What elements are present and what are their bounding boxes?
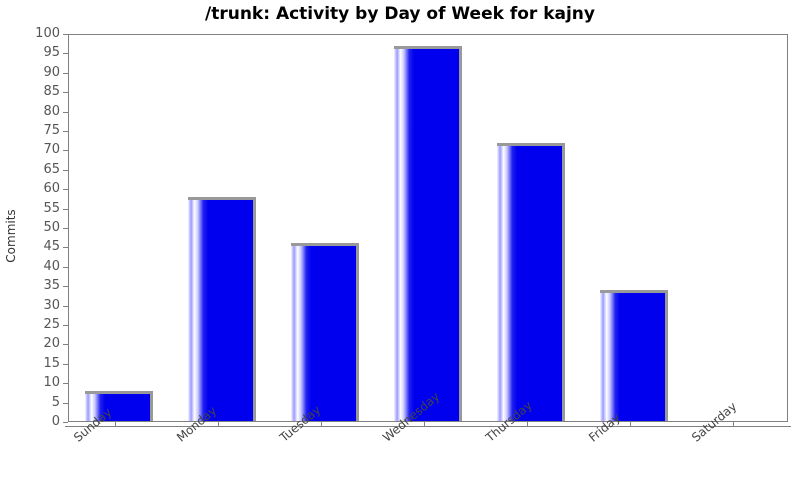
bars-layer bbox=[69, 35, 787, 421]
y-tick-label: 50 bbox=[43, 219, 60, 237]
y-tick-label: 35 bbox=[43, 277, 60, 295]
y-tick-label: 10 bbox=[43, 374, 60, 392]
bar-group bbox=[288, 35, 356, 421]
y-axis: Commits 05101520253035404550556065707580… bbox=[0, 34, 68, 422]
bar-chart: /trunk: Activity by Day of Week for kajn… bbox=[0, 0, 800, 500]
x-tick-mark bbox=[218, 422, 219, 427]
y-tick-label: 15 bbox=[43, 355, 60, 373]
bar-group bbox=[597, 35, 665, 421]
y-tick-label: 55 bbox=[43, 200, 60, 218]
bar-group bbox=[185, 35, 253, 421]
y-tick-label: 85 bbox=[43, 83, 60, 101]
y-tick-label: 40 bbox=[43, 258, 60, 276]
x-tick-mark bbox=[527, 422, 528, 427]
y-tick-label: 30 bbox=[43, 297, 60, 315]
x-axis-line bbox=[65, 426, 791, 427]
bar-group bbox=[700, 35, 768, 421]
y-tick-label: 65 bbox=[43, 161, 60, 179]
bar[interactable] bbox=[597, 293, 665, 421]
bar[interactable] bbox=[288, 246, 356, 421]
y-tick-label: 75 bbox=[43, 122, 60, 140]
y-tick-label: 0 bbox=[52, 413, 60, 431]
x-axis: SundayMondayTuesdayWednesdayThursdayFrid… bbox=[68, 422, 788, 500]
y-tick-label: 5 bbox=[52, 394, 60, 412]
y-tick-label: 20 bbox=[43, 335, 60, 353]
x-tick-mark bbox=[424, 422, 425, 427]
chart-title: /trunk: Activity by Day of Week for kajn… bbox=[0, 4, 800, 24]
y-tick-label: 100 bbox=[35, 25, 60, 43]
plot-area bbox=[68, 34, 788, 422]
y-axis-title: Commits bbox=[4, 186, 18, 286]
bar-group bbox=[82, 35, 150, 421]
y-tick-label: 45 bbox=[43, 238, 60, 256]
x-tick-mark bbox=[733, 422, 734, 427]
y-tick-label: 60 bbox=[43, 180, 60, 198]
y-tick-label: 90 bbox=[43, 64, 60, 82]
y-tick-label: 95 bbox=[43, 44, 60, 62]
bar[interactable] bbox=[391, 49, 459, 421]
y-tick-label: 80 bbox=[43, 103, 60, 121]
bar[interactable] bbox=[494, 146, 562, 421]
bar-group bbox=[494, 35, 562, 421]
x-tick-mark bbox=[321, 422, 322, 427]
bar-group bbox=[391, 35, 459, 421]
y-tick-label: 25 bbox=[43, 316, 60, 334]
x-tick-mark bbox=[630, 422, 631, 427]
y-tick-label: 70 bbox=[43, 141, 60, 159]
bar[interactable] bbox=[185, 200, 253, 421]
x-tick-mark bbox=[115, 422, 116, 427]
